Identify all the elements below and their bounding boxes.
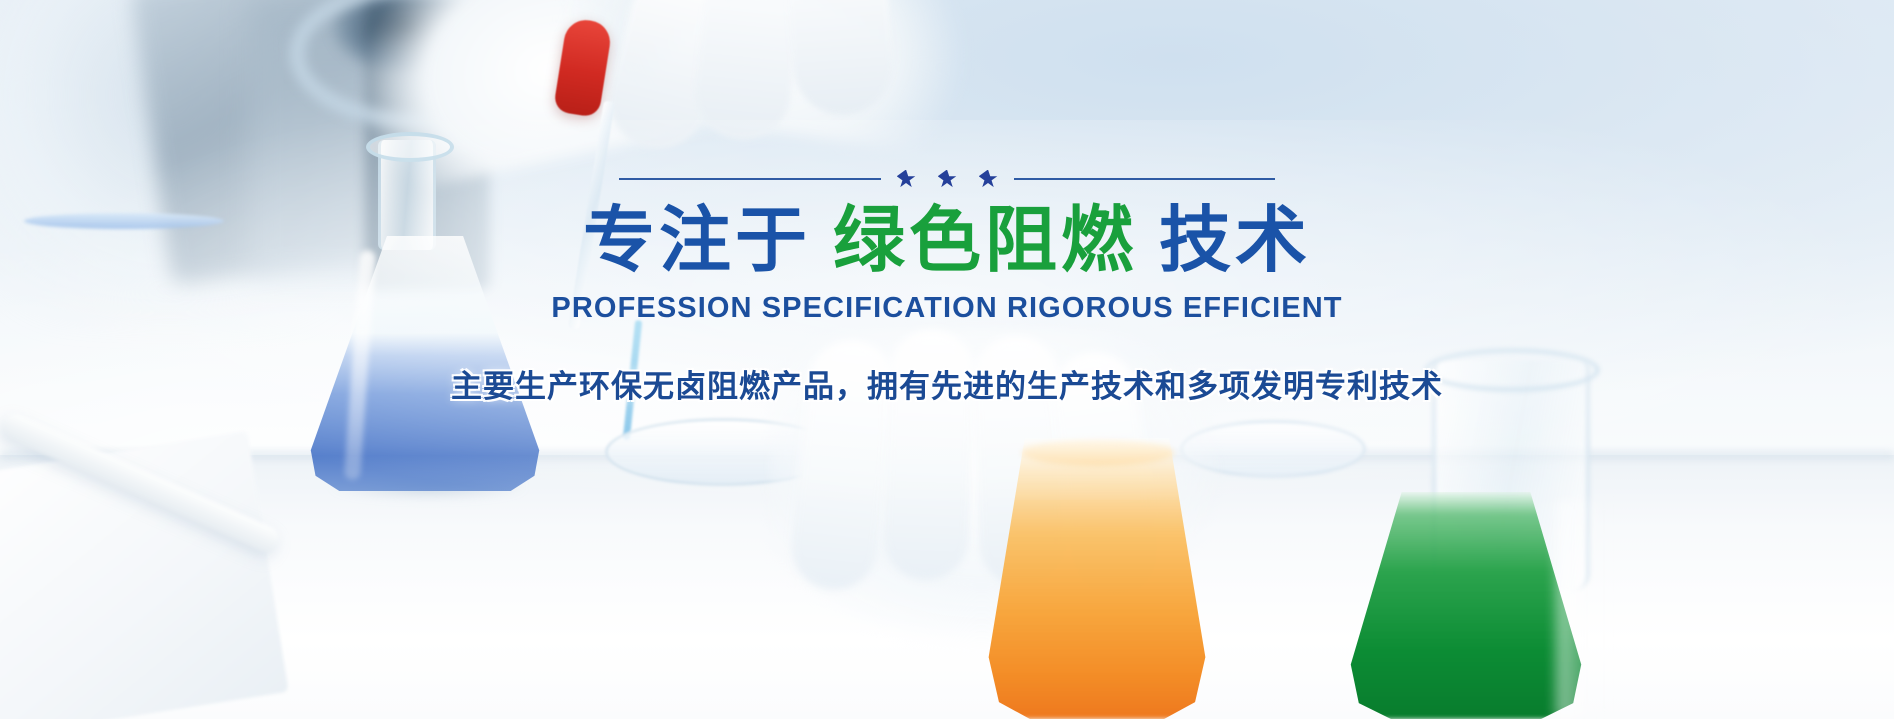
banner-headline: 专注于绿色阻燃技术 xyxy=(583,202,1311,280)
banner-tagline: 主要生产环保无卤阻燃产品，拥有先进的生产技术和多项发明专利技术 xyxy=(451,361,1443,406)
star-group xyxy=(897,170,998,189)
banner-content: 专注于绿色阻燃技术 PROFESSION SPECIFICATION RIGOR… xyxy=(0,0,1894,719)
headline-part-1: 专注于 xyxy=(583,198,811,282)
banner-subtitle: PROFESSION SPECIFICATION RIGOROUS EFFICI… xyxy=(551,292,1342,325)
star-icon xyxy=(938,170,957,189)
divider-line-left xyxy=(619,178,881,180)
headline-part-2: 绿色阻燃 xyxy=(833,198,1137,282)
divider-line-right xyxy=(1014,178,1276,180)
star-icon xyxy=(979,170,998,189)
decorative-divider xyxy=(619,168,1275,190)
hero-banner: 专注于绿色阻燃技术 PROFESSION SPECIFICATION RIGOR… xyxy=(0,0,1894,719)
star-icon xyxy=(897,170,916,189)
headline-part-3: 技术 xyxy=(1159,198,1311,282)
